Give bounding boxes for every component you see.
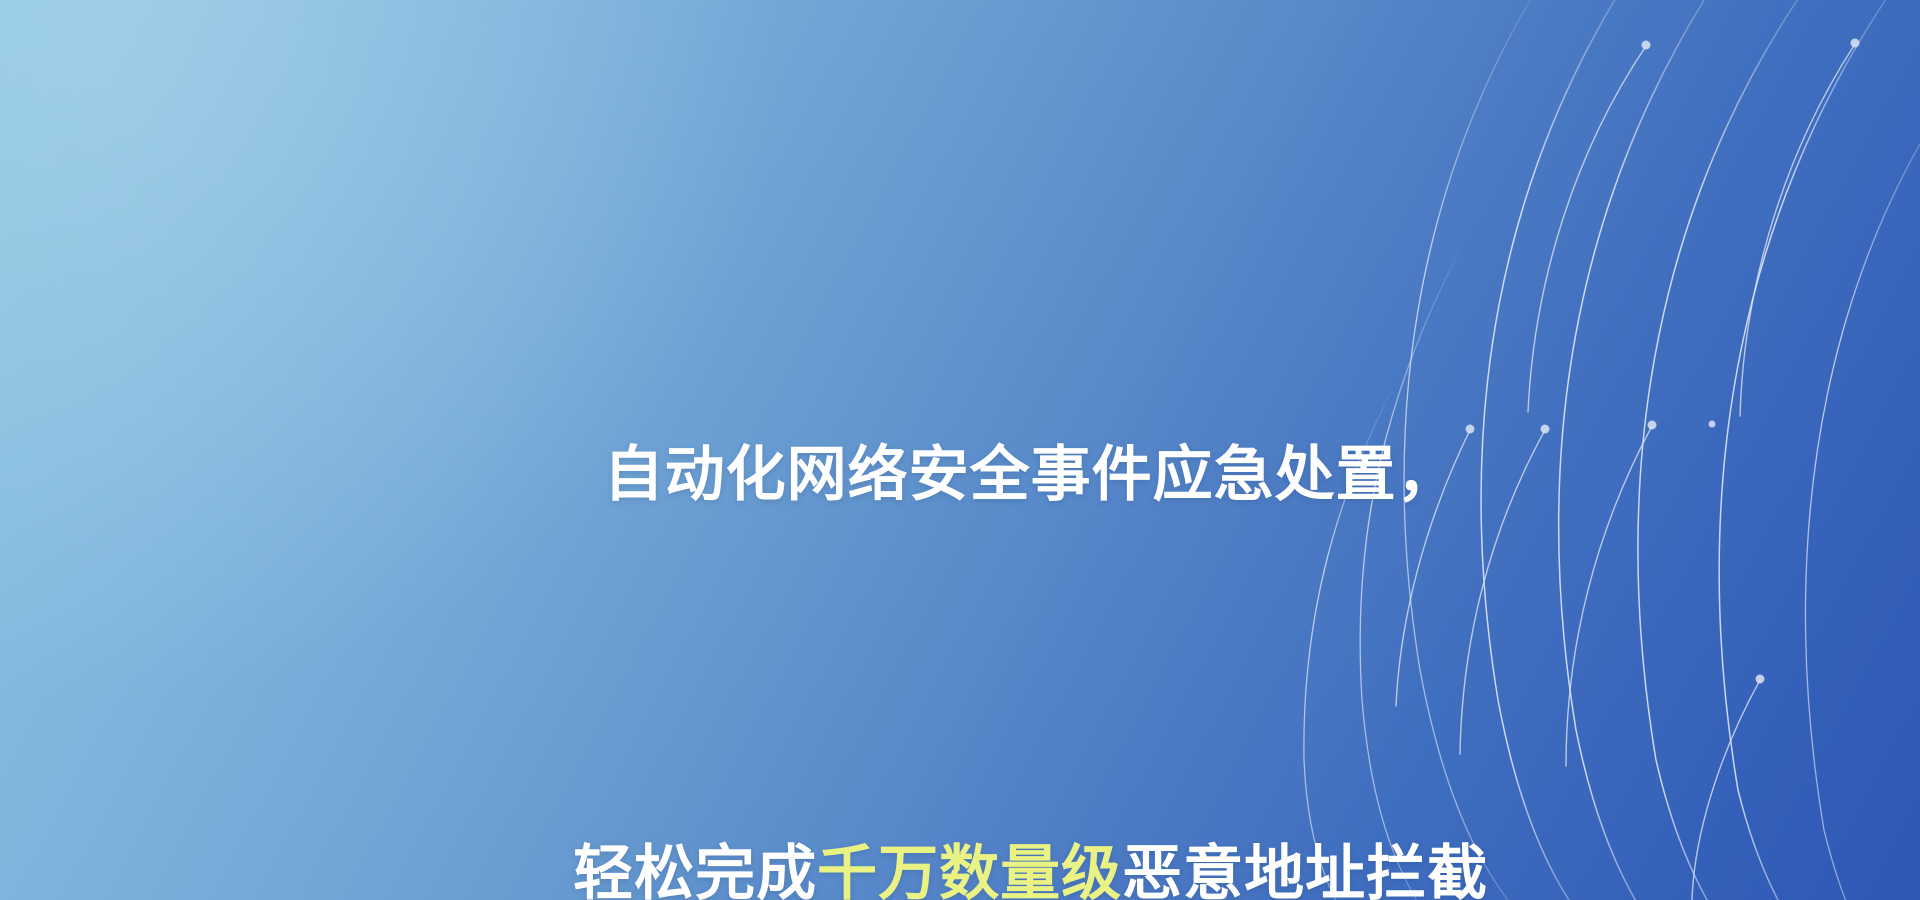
hero-banner: 自动化网络安全事件应急处置， 轻松完成千万数量级恶意地址拦截 应急拦截网关 查看…: [0, 0, 1920, 900]
headline-accent-text: 千万数量级: [817, 840, 1122, 900]
headline-line-2-suffix: 恶意地址拦截: [1122, 840, 1488, 900]
page-title: 自动化网络安全事件应急处置， 轻松完成千万数量级恶意地址拦截: [432, 196, 1488, 900]
headline-line-2-prefix: 轻松完成: [573, 840, 817, 900]
headline-line-1-text: 自动化网络安全事件应急处置，: [604, 441, 1458, 508]
headline-line-1: 自动化网络安全事件应急处置，: [432, 356, 1488, 595]
hero-content: 自动化网络安全事件应急处置， 轻松完成千万数量级恶意地址拦截 应急拦截网关 查看…: [0, 0, 1920, 900]
headline-line-2: 轻松完成千万数量级恶意地址拦截: [432, 755, 1488, 900]
